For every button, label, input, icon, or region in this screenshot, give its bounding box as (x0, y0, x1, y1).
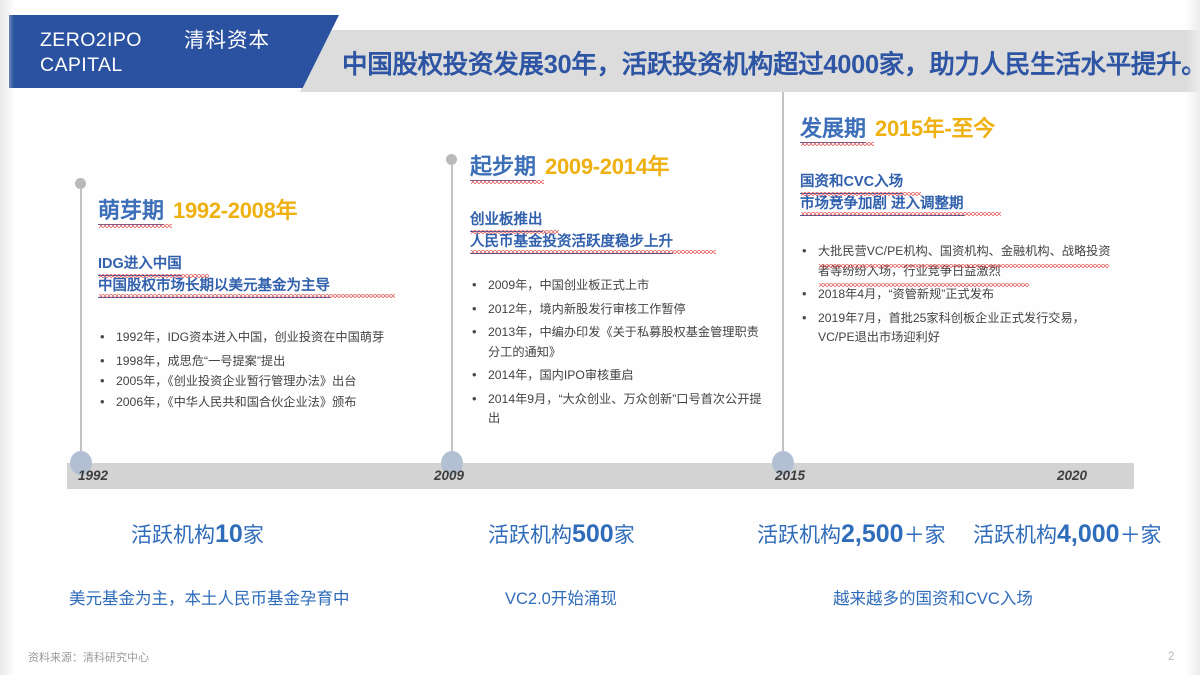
bullet-item: 2014年，国内IPO审核重启 (470, 366, 770, 386)
bullet-item: 1998年，成思危“一号提案”提出 (98, 352, 428, 372)
summary-desc-3: 越来越多的国资和CVC入场 (833, 588, 1033, 610)
phase-subtitle-3-line2: 市场竞争加剧 进入调整期 (800, 194, 964, 216)
summary-count-value: 2,500 (841, 520, 904, 548)
bullet-item: 大批民营VC/PE机构、国资机构、金融机构、战略投资者等纷纷入场，行业竞争日益激… (800, 242, 1120, 281)
bullet-item: 2013年，中编办印发《关于私募股权基金管理职责分工的通知》 (470, 323, 770, 362)
phase-subtitle-3-line1: 国资和CVC入场 (800, 172, 903, 194)
phase-title-1: 萌芽期1992-2008年 (98, 196, 428, 226)
phase-title-2: 起步期2009-2014年 (470, 152, 770, 182)
phase-subtitle-1-line1: IDG进入中国 (98, 254, 182, 276)
phase-subtitle-2-line2: 人民币基金投资活跃度稳步上升 (470, 232, 673, 254)
summary-count-suffix: ＋家 (1120, 524, 1162, 547)
brand-logo-cn: 清科资本 (184, 28, 270, 53)
phase-bullets-2: 2009年，中国创业板正式上市 2012年，境内新股发行审核工作暂停 2013年… (470, 276, 770, 429)
source-note: 资料来源：清科研究中心 (28, 649, 149, 665)
phase-title-3: 发展期2015年-至今 (800, 114, 1120, 144)
bullet-item: 2019年7月，首批25家科创板企业正式发行交易，VC/PE退出市场迎利好 (800, 309, 1120, 348)
timeline-year-2020: 2020 (1057, 468, 1087, 483)
phase-bullets-1: 1992年，IDG资本进入中国，创业投资在中国萌芽 1998年，成思危“一号提案… (98, 328, 428, 412)
connector-line-1 (80, 184, 82, 467)
summary-count-suffix: 家 (243, 524, 264, 547)
summary-count-value: 4,000 (1057, 520, 1120, 548)
brand-logo-en: ZERO2IPO CAPITAL (40, 28, 142, 78)
bullet-item: 2018年4月，“资管新规”正式发布 (800, 285, 1120, 305)
summary-count-1: 活跃机构10家 (131, 521, 264, 549)
summary-count-3: 活跃机构2,500＋家 (757, 521, 946, 549)
summary-count-value: 10 (215, 520, 243, 548)
phase-name-1: 萌芽期 (98, 198, 164, 225)
connector-top-dot-2 (446, 154, 457, 165)
connector-line-2 (451, 160, 453, 467)
phase-subtitle-1: IDG进入中国 中国股权市场长期以美元基金为主导 (98, 254, 428, 298)
bullet-item: 1992年，IDG资本进入中国，创业投资在中国萌芽 (98, 328, 428, 348)
connector-line-3 (782, 82, 784, 467)
page-title: 中国股权投资发展30年，活跃投资机构超过4000家，助力人民生活水平提升。 (342, 44, 1192, 81)
summary-desc-1: 美元基金为主，本土人民币基金孕育中 (69, 588, 350, 610)
timeline-year-2015: 2015 (775, 468, 805, 483)
summary-count-prefix: 活跃机构 (973, 524, 1057, 547)
timeline-year-1992: 1992 (78, 468, 108, 483)
summary-count-suffix: ＋家 (904, 524, 946, 547)
phase-subtitle-1-line2: 中国股权市场长期以美元基金为主导 (98, 276, 330, 298)
summary-desc-2: VC2.0开始涌现 (505, 588, 617, 610)
summary-count-prefix: 活跃机构 (757, 524, 841, 547)
phase-subtitle-2-line1: 创业板推出 (470, 210, 543, 232)
summary-count-value: 500 (572, 520, 614, 548)
phase-years-3: 2015年-至今 (875, 116, 995, 141)
bullet-item: 2012年，境内新股发行审核工作暂停 (470, 300, 770, 320)
phase-subtitle-3: 国资和CVC入场 市场竞争加剧 进入调整期 (800, 172, 1120, 216)
timeline-year-2009: 2009 (434, 468, 464, 483)
bullet-item: 2006年，《中华人民共和国合伙企业法》颁布 (98, 393, 428, 413)
brand-logo-en-line2: CAPITAL (40, 53, 142, 78)
phase-column-3: 发展期2015年-至今 国资和CVC入场 市场竞争加剧 进入调整期 大批民营VC… (800, 114, 1120, 364)
bullet-item: 2009年，中国创业板正式上市 (470, 276, 770, 296)
phase-column-2: 起步期2009-2014年 创业板推出 人民币基金投资活跃度稳步上升 2009年… (470, 152, 770, 445)
bullet-item: 2014年9月，“大众创业、万众创新”口号首次公开提出 (470, 390, 770, 429)
phase-years-2: 2009-2014年 (545, 154, 669, 179)
connector-top-dot-1 (75, 178, 86, 189)
phase-subtitle-2: 创业板推出 人民币基金投资活跃度稳步上升 (470, 210, 770, 254)
phase-column-1: 萌芽期1992-2008年 IDG进入中国 中国股权市场长期以美元基金为主导 1… (98, 196, 428, 428)
summary-count-prefix: 活跃机构 (488, 524, 572, 547)
summary-count-2: 活跃机构500家 (488, 521, 635, 549)
brand-logo-en-line1: ZERO2IPO (40, 28, 142, 53)
bullet-item: 2005年，《创业投资企业暂行管理办法》出台 (98, 372, 428, 392)
slide-canvas: 中国股权投资发展30年，活跃投资机构超过4000家，助力人民生活水平提升。 ZE… (0, 0, 1200, 675)
phase-name-2: 起步期 (470, 154, 536, 181)
page-number: 2 (1168, 651, 1174, 663)
summary-count-suffix: 家 (614, 524, 635, 547)
summary-count-4: 活跃机构4,000＋家 (973, 521, 1162, 549)
phase-bullets-3: 大批民营VC/PE机构、国资机构、金融机构、战略投资者等纷纷入场，行业竞争日益激… (800, 242, 1120, 348)
timeline-bar (67, 463, 1134, 489)
summary-count-prefix: 活跃机构 (131, 524, 215, 547)
phase-name-3: 发展期 (800, 116, 866, 143)
phase-years-1: 1992-2008年 (173, 198, 297, 223)
